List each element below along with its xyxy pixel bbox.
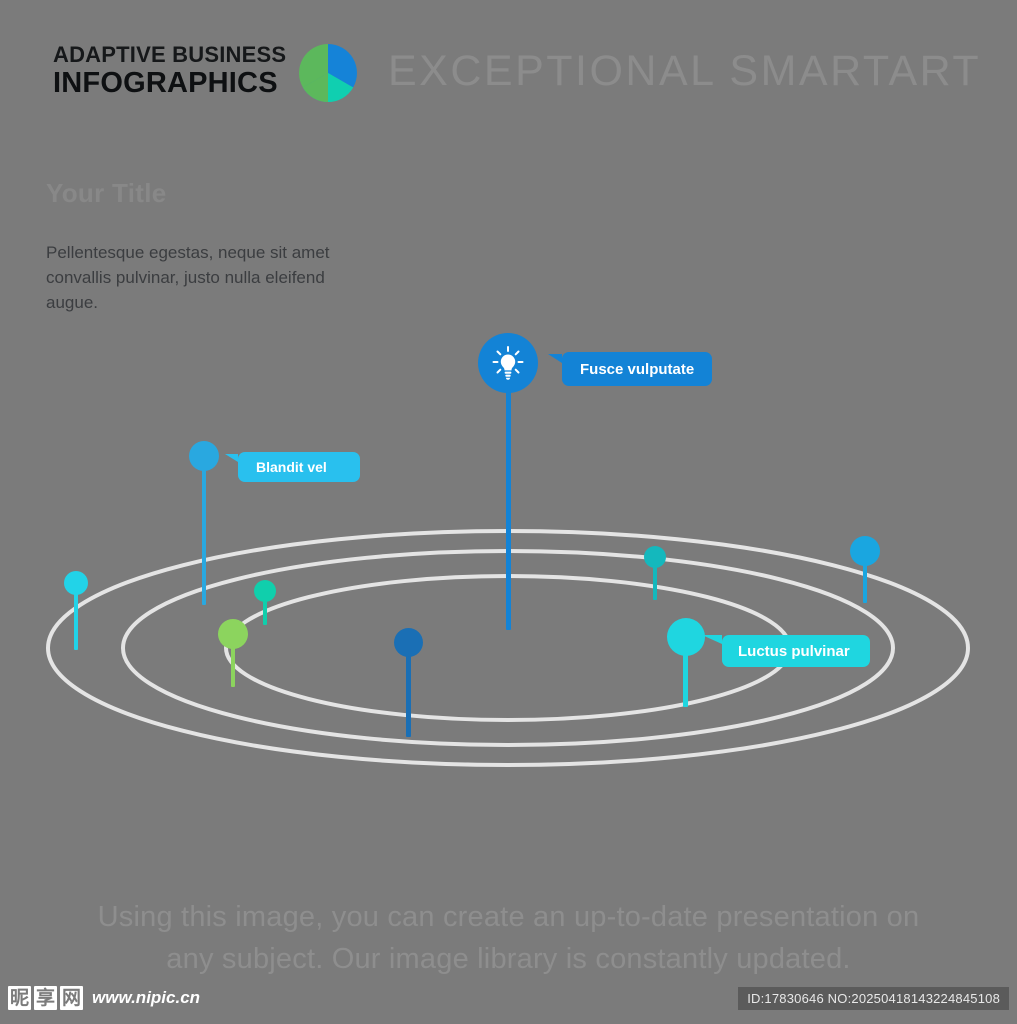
footer-line-1: Using this image, you can create an up-t… bbox=[0, 896, 1017, 938]
section-title: Your Title bbox=[46, 178, 167, 209]
pin-head bbox=[667, 618, 705, 656]
watermark-bar: 昵 享 网 www.nipic.cn ID:17830646 NO:202504… bbox=[0, 978, 1017, 1024]
pin-teal-right[interactable] bbox=[644, 546, 666, 601]
pie-chart-logo-icon bbox=[299, 44, 357, 102]
pin-head bbox=[850, 536, 880, 566]
callout-tail bbox=[702, 635, 722, 644]
callout-fusce[interactable]: Fusce vulputate bbox=[562, 352, 712, 386]
pin-head bbox=[644, 546, 666, 568]
nipic-logo-chars: 昵 享 网 bbox=[8, 986, 86, 1010]
pin-head bbox=[189, 441, 219, 471]
pin-teal-small[interactable] bbox=[254, 580, 276, 626]
pin-cyan-left[interactable] bbox=[64, 571, 88, 651]
watermark-id: ID:17830646 NO:20250418143224845108 bbox=[738, 987, 1009, 1010]
brand-lockup: ADAPTIVE BUSINESS INFOGRAPHICS bbox=[53, 44, 286, 98]
pin-blue-right[interactable] bbox=[850, 536, 880, 604]
lightbulb-icon bbox=[478, 333, 538, 393]
pin-blue-blandit[interactable] bbox=[189, 441, 219, 606]
nipic-char-3: 网 bbox=[60, 986, 83, 1010]
callout-label: Luctus pulvinar bbox=[738, 643, 850, 660]
callout-label: Blandit vel bbox=[256, 459, 327, 475]
brand-line-2: INFOGRAPHICS bbox=[53, 69, 286, 98]
callout-luctus[interactable]: Luctus pulvinar bbox=[722, 635, 870, 667]
footer-caption: Using this image, you can create an up-t… bbox=[0, 896, 1017, 980]
callout-label: Fusce vulputate bbox=[580, 361, 694, 378]
pin-stem bbox=[202, 456, 206, 605]
nipic-url: www.nipic.cn bbox=[92, 988, 200, 1008]
nipic-char-1: 昵 bbox=[8, 986, 31, 1010]
brand-line-1: ADAPTIVE BUSINESS bbox=[53, 44, 286, 66]
pin-darkblue[interactable] bbox=[394, 628, 423, 738]
pin-green[interactable] bbox=[218, 619, 248, 688]
nipic-logo: 昵 享 网 www.nipic.cn bbox=[8, 986, 200, 1010]
section-body-text: Pellentesque egestas, neque sit amet con… bbox=[46, 240, 376, 315]
footer-line-2: any subject. Our image library is consta… bbox=[0, 938, 1017, 980]
pin-head bbox=[394, 628, 423, 657]
pin-stem bbox=[506, 363, 511, 630]
nipic-char-2: 享 bbox=[34, 986, 57, 1010]
callout-tail bbox=[548, 354, 562, 363]
callout-tail bbox=[225, 454, 238, 462]
pin-head bbox=[64, 571, 88, 595]
callout-blandit[interactable]: Blandit vel bbox=[238, 452, 360, 482]
page-header: ADAPTIVE BUSINESS INFOGRAPHICS EXCEPTION… bbox=[0, 0, 1017, 130]
pin-bulb-fusce[interactable] bbox=[478, 333, 538, 631]
pin-cyan-luctus[interactable] bbox=[667, 618, 705, 708]
pin-head bbox=[254, 580, 276, 602]
pin-head bbox=[218, 619, 248, 649]
headline: EXCEPTIONAL SMARTART bbox=[388, 47, 981, 96]
